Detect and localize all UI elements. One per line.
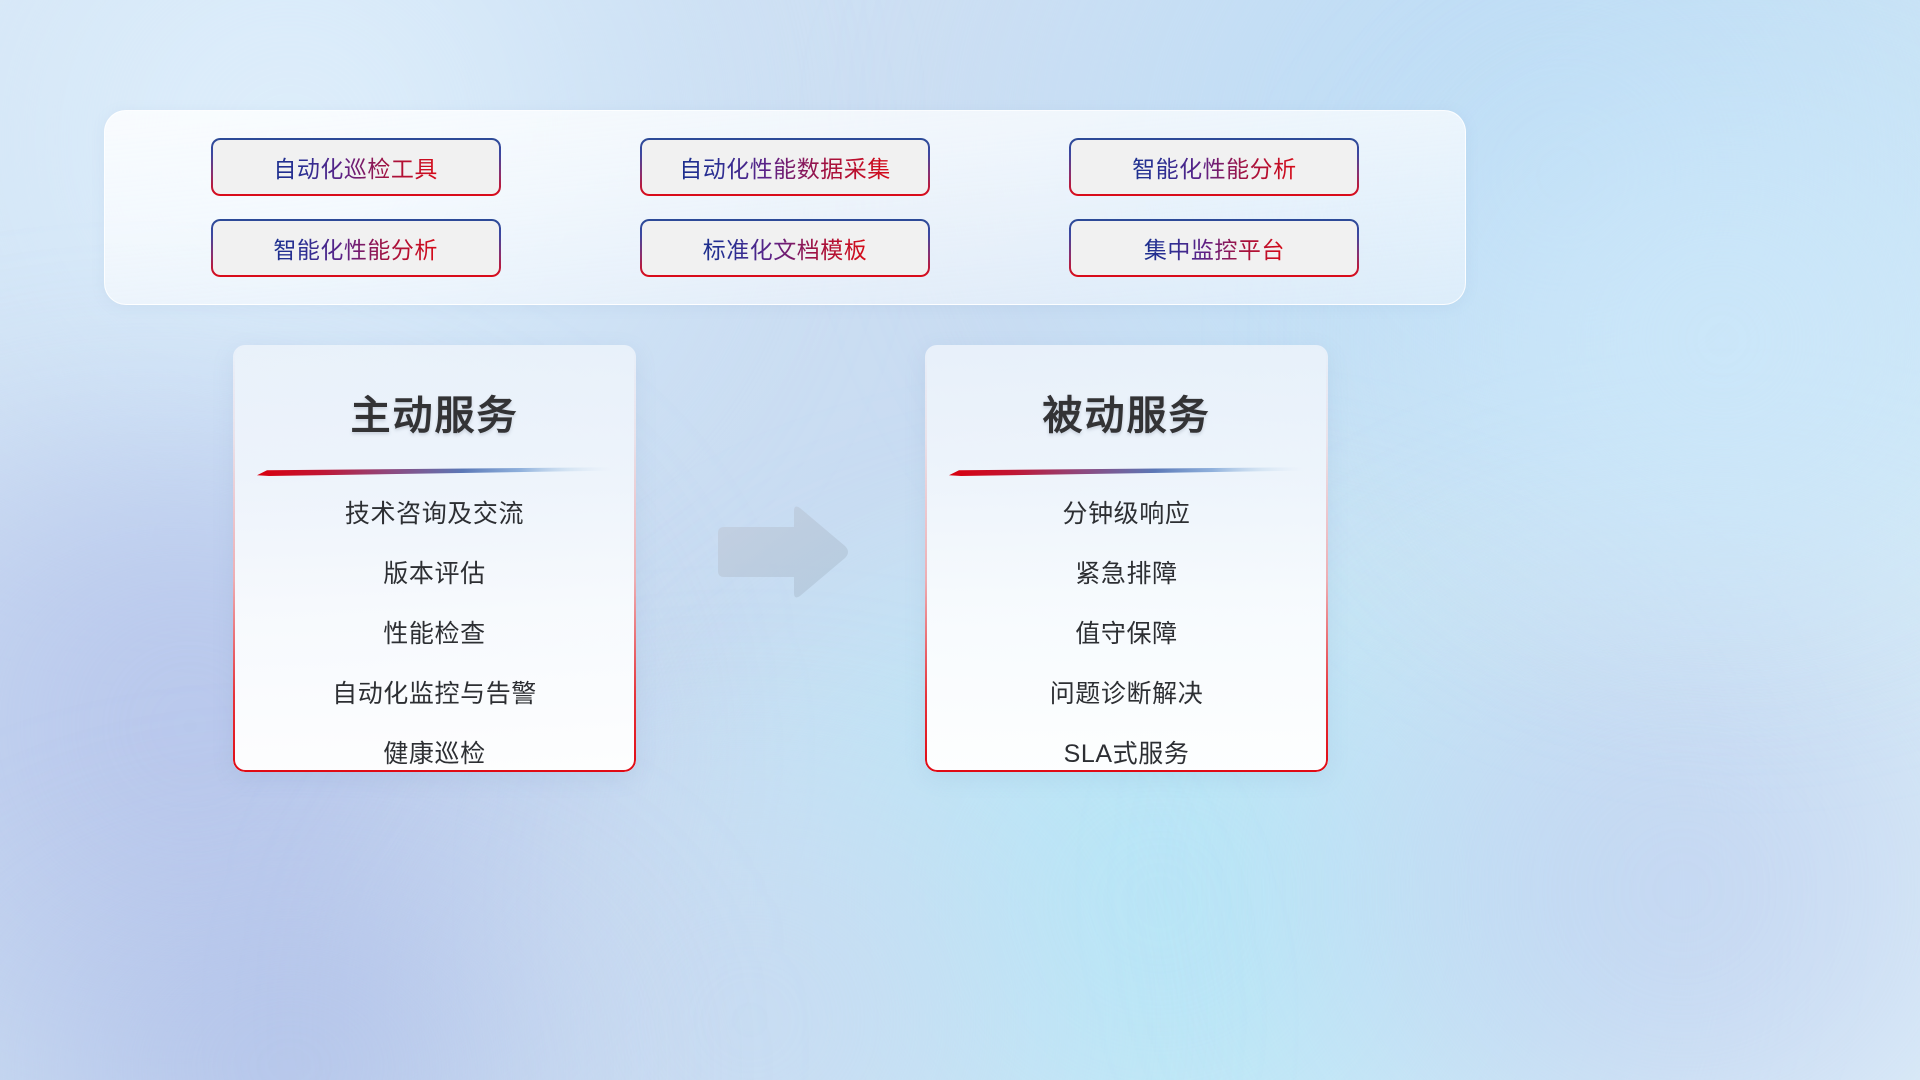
list-item: 紧急排障 bbox=[925, 562, 1328, 587]
list-item: 值守保障 bbox=[925, 622, 1328, 647]
capability-tags-grid: 自动化巡检工具 自动化性能数据采集 智能化性能分析 智能化性能分析 标准化文档模… bbox=[105, 111, 1465, 304]
list-item: 问题诊断解决 bbox=[925, 682, 1328, 707]
slide-canvas: 自动化巡检工具 自动化性能数据采集 智能化性能分析 智能化性能分析 标准化文档模… bbox=[0, 0, 1920, 1080]
capability-tag-3[interactable]: 智能化性能分析 bbox=[1069, 138, 1359, 196]
list-item: 性能检查 bbox=[233, 622, 636, 647]
capability-tag-label: 智能化性能分析 bbox=[1132, 150, 1297, 184]
capability-tags-panel: 自动化巡检工具 自动化性能数据采集 智能化性能分析 智能化性能分析 标准化文档模… bbox=[104, 110, 1466, 305]
capability-tag-4[interactable]: 智能化性能分析 bbox=[211, 219, 501, 277]
active-service-card[interactable]: 主动服务 技术咨询及交流 版本评估 bbox=[233, 345, 636, 772]
list-item: 分钟级响应 bbox=[925, 502, 1328, 527]
capability-tag-5[interactable]: 标准化文档模板 bbox=[640, 219, 930, 277]
title-divider-gradient bbox=[949, 467, 1304, 476]
passive-service-title: 被动服务 bbox=[925, 383, 1328, 441]
active-service-title: 主动服务 bbox=[233, 383, 636, 441]
title-divider-gradient bbox=[257, 467, 612, 476]
capability-tag-2[interactable]: 自动化性能数据采集 bbox=[640, 138, 930, 196]
capability-tag-label: 自动化巡检工具 bbox=[273, 150, 438, 184]
list-item: 健康巡检 bbox=[233, 742, 636, 767]
flow-arrow-right-icon bbox=[712, 502, 852, 602]
capability-tag-label: 集中监控平台 bbox=[1144, 231, 1285, 265]
capability-tag-label: 标准化文档模板 bbox=[703, 231, 868, 265]
capability-tag-6[interactable]: 集中监控平台 bbox=[1069, 219, 1359, 277]
active-service-list: 技术咨询及交流 版本评估 性能检查 自动化监控与告警 健康巡检 bbox=[233, 502, 636, 772]
capability-tag-1[interactable]: 自动化巡检工具 bbox=[211, 138, 501, 196]
passive-service-card[interactable]: 被动服务 分钟级响应 紧急排障 bbox=[925, 345, 1328, 772]
capability-tag-label: 智能化性能分析 bbox=[273, 231, 438, 265]
list-item: 自动化监控与告警 bbox=[233, 682, 636, 707]
list-item: 技术咨询及交流 bbox=[233, 502, 636, 527]
list-item: 版本评估 bbox=[233, 562, 636, 587]
capability-tag-label: 自动化性能数据采集 bbox=[679, 150, 891, 184]
passive-service-list: 分钟级响应 紧急排障 值守保障 问题诊断解决 SLA式服务 bbox=[925, 502, 1328, 772]
list-item: SLA式服务 bbox=[925, 742, 1328, 767]
